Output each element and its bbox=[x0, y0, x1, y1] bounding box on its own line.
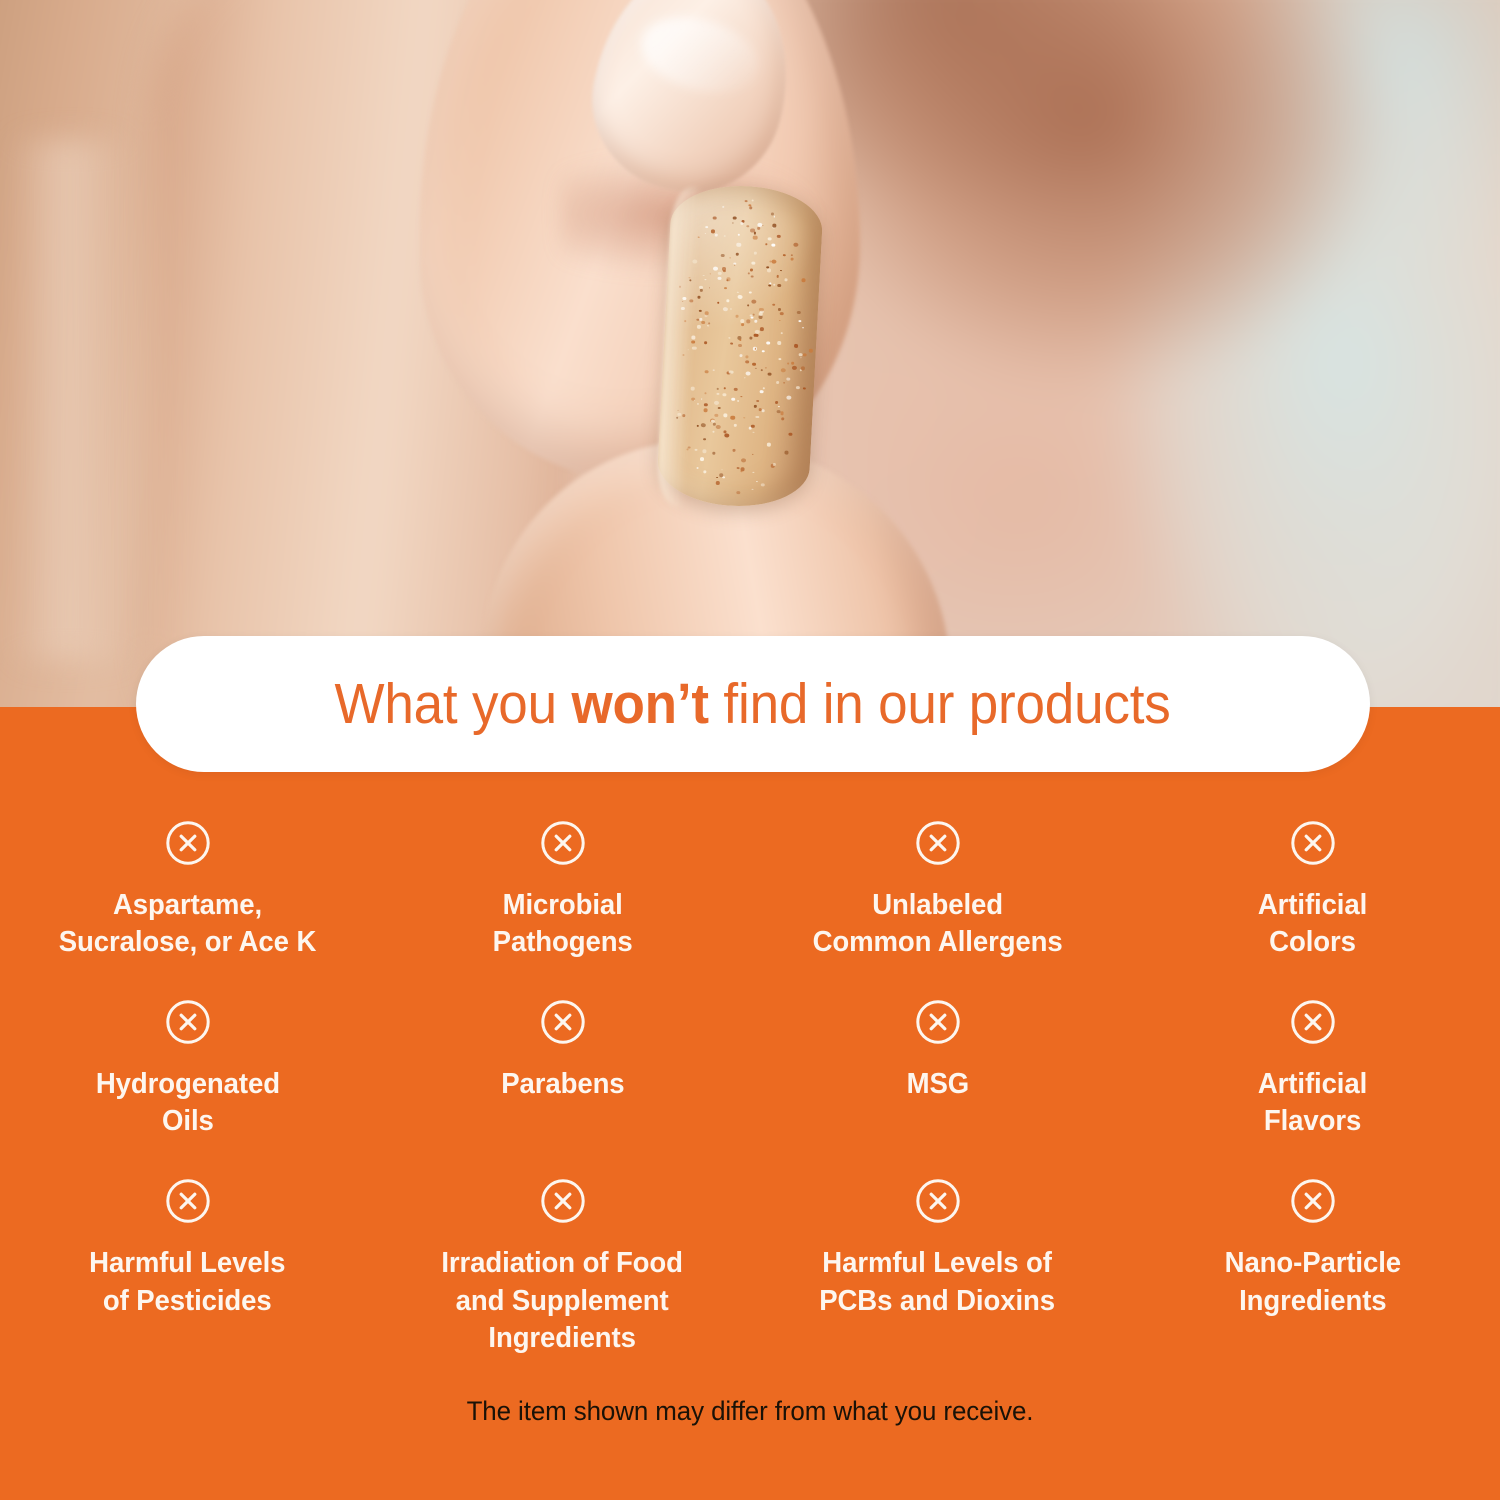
tablet-speck bbox=[790, 257, 794, 260]
tablet-speck bbox=[788, 432, 792, 435]
tablet-speck bbox=[717, 302, 719, 304]
tablet-speck bbox=[740, 471, 742, 473]
claim-item: Artificial Flavors bbox=[1125, 999, 1500, 1140]
tablet-speck bbox=[763, 387, 765, 389]
tablet-speck bbox=[746, 319, 751, 323]
claim-item: Aspartame, Sucralose, or Ace K bbox=[0, 820, 375, 961]
tablet-speck bbox=[716, 425, 721, 429]
tablet-speck bbox=[703, 438, 705, 440]
tablet-speck bbox=[718, 277, 722, 281]
tablet-speck bbox=[741, 396, 743, 397]
tablet-speck bbox=[754, 333, 759, 337]
tablet-speck bbox=[713, 216, 716, 219]
claim-item: Harmful Levels of Pesticides bbox=[0, 1178, 375, 1356]
tablet-speck bbox=[802, 327, 804, 329]
tablet-speck bbox=[791, 254, 793, 256]
tablet-speck bbox=[783, 254, 786, 257]
tablet-speck bbox=[785, 279, 788, 281]
tablet-speck bbox=[737, 400, 739, 402]
tablet-speck bbox=[767, 341, 771, 344]
tablet-speck bbox=[747, 272, 750, 274]
tablet-speck bbox=[713, 266, 718, 270]
claim-item: Unlabeled Common Allergens bbox=[750, 820, 1125, 961]
tablet-speck bbox=[710, 273, 712, 274]
tablet-speck bbox=[716, 477, 718, 479]
tablet-speck bbox=[808, 349, 813, 353]
tablet-speck bbox=[702, 449, 706, 453]
tablet-speck bbox=[731, 416, 736, 420]
tablet-speck bbox=[791, 362, 795, 365]
tablet-speck bbox=[760, 390, 764, 393]
tablet-speck bbox=[766, 269, 771, 273]
tablet-speck bbox=[723, 393, 727, 397]
tablet-speck bbox=[752, 432, 754, 434]
tablet-speck bbox=[778, 284, 782, 287]
tablet-speck bbox=[705, 226, 708, 228]
tablet-speck bbox=[724, 387, 726, 389]
claim-label: Aspartame, Sucralose, or Ace K bbox=[59, 887, 316, 961]
page-title: What you won’t find in our products bbox=[335, 676, 1171, 733]
tablet-speck bbox=[746, 225, 749, 228]
tablet-speck bbox=[740, 354, 743, 357]
tablet-speck bbox=[708, 287, 709, 288]
tablet-speck bbox=[704, 370, 709, 374]
tablet-speck bbox=[717, 388, 719, 389]
circle-x-icon bbox=[1290, 1178, 1336, 1224]
tablet-speck bbox=[771, 212, 775, 215]
tablet-speck bbox=[736, 253, 739, 256]
tablet-speck bbox=[694, 448, 697, 451]
tablet-speck bbox=[754, 320, 757, 323]
claim-item: Hydrogenated Oils bbox=[0, 999, 375, 1140]
tablet-speck bbox=[718, 272, 722, 275]
tablet-speck bbox=[759, 327, 763, 331]
tablet-speck bbox=[749, 206, 753, 209]
claims-grid: Aspartame, Sucralose, or Ace KMicrobial … bbox=[0, 820, 1500, 1357]
tablet-speck bbox=[729, 257, 731, 259]
tablet-speck bbox=[779, 320, 781, 322]
tablet-speck bbox=[761, 483, 765, 487]
tablet-speck bbox=[745, 200, 748, 203]
tablet-speck bbox=[766, 243, 768, 245]
tablet-speck bbox=[793, 243, 798, 247]
circle-x-icon bbox=[540, 999, 586, 1045]
tablet-speck bbox=[780, 270, 782, 272]
tablet-speck bbox=[756, 481, 758, 483]
tablet-speck bbox=[704, 403, 708, 406]
tablet-speck bbox=[723, 307, 728, 311]
tablet-speck bbox=[757, 226, 761, 229]
tablet-speck bbox=[715, 481, 720, 485]
tablet-speck bbox=[711, 229, 716, 233]
tablet-speck bbox=[801, 278, 806, 282]
tablet-speck bbox=[781, 368, 786, 372]
tablet-speck bbox=[724, 433, 729, 437]
claim-label: Microbial Pathogens bbox=[493, 887, 633, 961]
tablet-speck bbox=[768, 284, 771, 287]
tablet-speck bbox=[751, 488, 753, 490]
tablet-speck bbox=[750, 268, 753, 271]
tablet-speck bbox=[801, 367, 805, 371]
product-claims-infographic: What you won’t find in our products Aspa… bbox=[0, 0, 1500, 1500]
tablet-speck bbox=[777, 341, 782, 345]
tablet-speck bbox=[731, 398, 735, 401]
claims-row: Harmful Levels of PesticidesIrradiation … bbox=[0, 1178, 1500, 1356]
claim-label: Harmful Levels of Pesticides bbox=[89, 1245, 285, 1319]
circle-x-icon bbox=[165, 999, 211, 1045]
tablet-speck bbox=[760, 369, 763, 371]
tablet-speck bbox=[803, 353, 807, 356]
tablet-speck bbox=[750, 228, 755, 232]
tablet-speck bbox=[734, 262, 736, 264]
product-photo bbox=[0, 0, 1500, 710]
claim-label: Irradiation of Food and Supplement Ingre… bbox=[442, 1245, 684, 1356]
circle-x-icon bbox=[540, 820, 586, 866]
claims-row: Hydrogenated OilsParabensMSGArtificial F… bbox=[0, 999, 1500, 1140]
tablet-speck bbox=[753, 236, 757, 240]
tablet-speck bbox=[701, 398, 703, 400]
tablet-speck bbox=[756, 415, 759, 418]
tablet-speck bbox=[714, 413, 718, 417]
tablet-speck bbox=[792, 366, 797, 370]
tablet-speck bbox=[758, 222, 763, 226]
claim-label: Nano-Particle Ingredients bbox=[1224, 1245, 1400, 1319]
page-title-part-1: What you bbox=[335, 672, 572, 736]
tablet-speck bbox=[735, 315, 738, 318]
tablet-speck bbox=[704, 392, 706, 394]
claim-item: MSG bbox=[750, 999, 1125, 1140]
tablet-speck bbox=[738, 234, 740, 236]
tablet-speck bbox=[780, 412, 784, 415]
tablet-speck bbox=[722, 206, 724, 208]
tablet-speck bbox=[712, 422, 716, 425]
tablet-speck bbox=[780, 332, 783, 334]
claim-label: MSG bbox=[906, 1066, 968, 1103]
circle-x-icon bbox=[540, 1178, 586, 1224]
tablet-speck bbox=[732, 222, 734, 223]
claim-item: Artificial Colors bbox=[1125, 820, 1500, 961]
tablet-speck bbox=[737, 467, 740, 469]
tablet-speck bbox=[799, 353, 803, 356]
tablet-speck bbox=[798, 320, 801, 322]
tablet-speck bbox=[701, 321, 705, 324]
claim-label: Harmful Levels of PCBs and Dioxins bbox=[820, 1245, 1056, 1319]
tablet-speck bbox=[715, 233, 718, 236]
tablet-speck bbox=[713, 431, 715, 433]
tablet-speck bbox=[785, 451, 789, 455]
tablet-speck bbox=[749, 291, 752, 294]
tablet-speck bbox=[778, 406, 779, 407]
page-title-part-2: find in our products bbox=[709, 672, 1171, 736]
tablet-speck bbox=[795, 386, 799, 390]
tablet-speck bbox=[738, 295, 743, 299]
tablet-speck bbox=[696, 402, 699, 405]
tablet-speck bbox=[703, 275, 705, 276]
tablet-speck bbox=[720, 254, 725, 258]
tablet-speck bbox=[745, 355, 748, 358]
tablet-speck bbox=[723, 413, 728, 417]
tablet-speck bbox=[703, 470, 706, 473]
tablet-speck bbox=[738, 343, 742, 346]
circle-x-icon bbox=[1290, 999, 1336, 1045]
tablet-speck bbox=[743, 417, 745, 418]
tablet-speck bbox=[761, 409, 765, 412]
tablet-speck bbox=[746, 372, 751, 376]
tablet-speck bbox=[729, 370, 734, 374]
tablet-speck bbox=[723, 235, 726, 238]
tablet-speck bbox=[767, 237, 771, 240]
tablet-speck bbox=[716, 393, 719, 395]
circle-x-icon bbox=[915, 999, 961, 1045]
tablet-speck bbox=[744, 377, 746, 378]
tablet-speck bbox=[803, 387, 806, 390]
tablet-speck bbox=[767, 443, 771, 446]
tablet-speck bbox=[704, 279, 706, 281]
tablet-speck bbox=[704, 408, 708, 412]
claim-label: Unlabeled Common Allergens bbox=[812, 887, 1062, 961]
tablet-speck bbox=[741, 459, 746, 463]
circle-x-icon bbox=[165, 820, 211, 866]
claim-item: Irradiation of Food and Supplement Ingre… bbox=[375, 1178, 750, 1356]
tablet-speck bbox=[781, 417, 784, 420]
tablet-speck bbox=[752, 299, 757, 303]
tablet-speck bbox=[778, 308, 782, 311]
tablet-speck bbox=[704, 341, 708, 344]
circle-x-icon bbox=[165, 1178, 211, 1224]
tablet-speck bbox=[740, 222, 744, 225]
tablet-speck bbox=[768, 373, 772, 376]
tablet-speck bbox=[772, 244, 776, 247]
tablet-speck bbox=[771, 260, 776, 264]
tablet-speck bbox=[751, 316, 754, 318]
tablet-speck bbox=[787, 395, 792, 399]
tablet-speck bbox=[786, 377, 790, 381]
tablet-speck bbox=[787, 363, 789, 365]
circle-x-icon bbox=[1290, 820, 1336, 866]
circle-x-icon bbox=[915, 820, 961, 866]
tablet-speck bbox=[726, 299, 730, 302]
tablet-speck bbox=[721, 469, 723, 470]
tablet-speck bbox=[754, 405, 758, 408]
tablet-speck bbox=[800, 357, 801, 358]
tablet-speck bbox=[756, 400, 759, 403]
claim-label: Artificial Flavors bbox=[1258, 1066, 1367, 1140]
claim-item: Harmful Levels of PCBs and Dioxins bbox=[750, 1178, 1125, 1356]
tablet-speck bbox=[747, 304, 750, 306]
tablet-speck bbox=[737, 243, 741, 247]
tablet-speck bbox=[741, 323, 744, 326]
tablet-speck bbox=[704, 311, 709, 315]
tablet-speck bbox=[765, 367, 767, 369]
tablet-speck bbox=[734, 388, 738, 391]
tablet-speck bbox=[737, 292, 739, 293]
tablet-speck bbox=[708, 322, 710, 324]
tablet-speck bbox=[737, 491, 741, 495]
tablet-speck bbox=[772, 304, 775, 306]
tablet-speck bbox=[752, 362, 756, 366]
tablet-speck bbox=[701, 423, 706, 427]
tablet-speck bbox=[745, 360, 749, 363]
claim-label: Hydrogenated Oils bbox=[95, 1066, 279, 1140]
tablet-speck bbox=[773, 284, 775, 286]
tablet-speck bbox=[707, 325, 709, 327]
tablet-speck bbox=[759, 308, 764, 312]
tablet-speck bbox=[751, 275, 754, 277]
tablet-speck bbox=[772, 224, 776, 228]
tablet-speck bbox=[752, 453, 753, 454]
claim-label: Artificial Colors bbox=[1258, 887, 1367, 961]
tablet-speck bbox=[761, 350, 764, 353]
tablet-speck bbox=[724, 287, 727, 290]
tablet-speck bbox=[740, 339, 742, 341]
circle-x-icon bbox=[915, 1178, 961, 1224]
tablet-speck bbox=[752, 314, 754, 316]
tablet-speck bbox=[722, 477, 725, 479]
claims-row: Aspartame, Sucralose, or Ace KMicrobial … bbox=[0, 820, 1500, 961]
tablet-speck bbox=[751, 425, 755, 428]
tablet-speck bbox=[719, 473, 723, 477]
tablet-speck bbox=[751, 199, 754, 202]
page-title-emphasis: won’t bbox=[572, 672, 709, 736]
tablet-speck bbox=[772, 463, 776, 466]
tablet-speck bbox=[755, 367, 757, 368]
tablet-speck bbox=[776, 381, 779, 384]
tablet-speck bbox=[718, 407, 720, 409]
tablet-speck bbox=[775, 401, 779, 404]
tablet-speck bbox=[697, 425, 699, 427]
tablet-speck bbox=[730, 342, 733, 345]
claim-item: Parabens bbox=[375, 999, 750, 1140]
claim-item: Microbial Pathogens bbox=[375, 820, 750, 961]
tablet-speck bbox=[779, 312, 783, 316]
tablet-speck bbox=[779, 358, 782, 360]
tablet-speck bbox=[713, 369, 715, 371]
tablet-speck bbox=[776, 275, 779, 278]
tablet-speck bbox=[728, 337, 730, 339]
photo-forearm-highlight bbox=[10, 140, 130, 660]
tablet-speck bbox=[696, 466, 699, 469]
tablet-speck bbox=[749, 336, 752, 339]
tablet-speck bbox=[734, 423, 738, 426]
disclaimer-text: The item shown may differ from what you … bbox=[30, 1396, 1470, 1427]
claim-item: Nano-Particle Ingredients bbox=[1125, 1178, 1500, 1356]
tablet-speck bbox=[783, 382, 785, 384]
tablet-speck bbox=[700, 457, 704, 461]
tablet-speck bbox=[797, 311, 801, 314]
tablet-speck bbox=[704, 233, 706, 234]
tablet-speck bbox=[730, 308, 731, 309]
tablet-speck bbox=[794, 344, 798, 348]
tablet-speck bbox=[752, 471, 754, 473]
tablet-speck bbox=[774, 216, 775, 217]
tablet-speck bbox=[732, 449, 735, 452]
tablet-speck bbox=[712, 452, 716, 455]
claim-label: Parabens bbox=[501, 1066, 624, 1103]
tablet-speck bbox=[751, 261, 756, 265]
tablet-speck bbox=[777, 234, 781, 237]
title-pill: What you won’t find in our products bbox=[136, 636, 1370, 772]
tablet-speck bbox=[753, 252, 757, 255]
tablet-speck bbox=[734, 265, 736, 266]
tablet-speck bbox=[714, 400, 719, 404]
tablet-speck bbox=[733, 216, 737, 220]
